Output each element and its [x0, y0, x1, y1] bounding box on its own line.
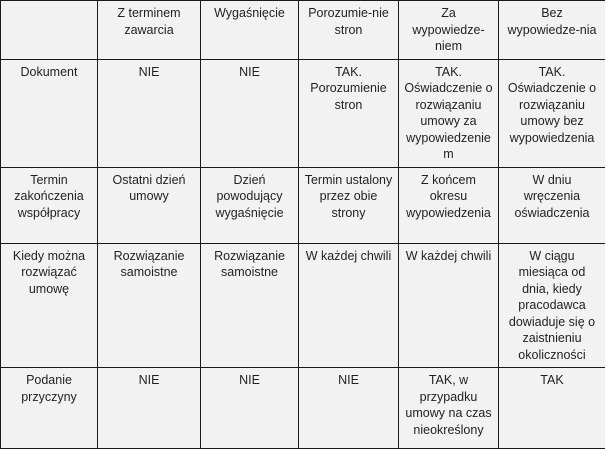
row-label-podanie-przyczyny: Podanie przyczyny — [1, 368, 98, 449]
column-header-wygasniecie: Wygaśnięcie — [201, 1, 299, 60]
table-corner-cell — [1, 1, 98, 60]
column-header-za-wypowiedzeniem: Za wypowiedze-niem — [399, 1, 499, 60]
cell-kiedy-za-wypowiedzeniem: W każdej chwili — [399, 243, 499, 368]
table-row: Podanie przyczyny NIE NIE NIE TAK, w prz… — [1, 368, 605, 449]
cell-przyczyna-bez-wypowiedzenia: TAK — [499, 368, 605, 449]
table-row: Termin zakończenia współpracy Ostatni dz… — [1, 167, 605, 243]
cell-dokument-za-wypowiedzeniem: TAK. Oświadczenie o rozwiązaniu umowy za… — [399, 59, 499, 167]
comparison-table-container: Z terminem zawarcia Wygaśnięcie Porozumi… — [0, 0, 605, 438]
cell-termin-bez-wypowiedzenia: W dniu wręczenia oświadczenia — [499, 167, 605, 243]
cell-dokument-bez-wypowiedzenia: TAK. Oświadczenie o rozwiązaniu umowy be… — [499, 59, 605, 167]
cell-dokument-porozumienie-stron: TAK. Porozumienie stron — [299, 59, 399, 167]
cell-termin-porozumienie-stron: Termin ustalony przez obie strony — [299, 167, 399, 243]
cell-przyczyna-wygasniecie: NIE — [201, 368, 299, 449]
cell-przyczyna-porozumienie-stron: NIE — [299, 368, 399, 449]
row-label-kiedy-mozna-rozwiazac-umowe: Kiedy można rozwiązać umowę — [1, 243, 98, 368]
cell-termin-z-terminem-zawarcia: Ostatni dzień umowy — [98, 167, 201, 243]
cell-kiedy-wygasniecie: Rozwiązanie samoistne — [201, 243, 299, 368]
column-header-porozumienie-stron: Porozumie-nie stron — [299, 1, 399, 60]
cell-przyczyna-za-wypowiedzeniem: TAK, w przypadku umowy na czas nieokreśl… — [399, 368, 499, 449]
cell-kiedy-bez-wypowiedzenia: W ciągu miesiąca od dnia, kiedy pracodaw… — [499, 243, 605, 368]
cell-przyczyna-z-terminem-zawarcia: NIE — [98, 368, 201, 449]
cell-dokument-z-terminem-zawarcia: NIE — [98, 59, 201, 167]
cell-termin-wygasniecie: Dzień powodujący wygaśnięcie — [201, 167, 299, 243]
column-header-z-terminem-zawarcia: Z terminem zawarcia — [98, 1, 201, 60]
table-row: Kiedy można rozwiązać umowę Rozwiązanie … — [1, 243, 605, 368]
table-row: Dokument NIE NIE TAK. Porozumienie stron… — [1, 59, 605, 167]
cell-dokument-wygasniecie: NIE — [201, 59, 299, 167]
cell-termin-za-wypowiedzeniem: Z końcem okresu wypowiedzenia — [399, 167, 499, 243]
column-header-bez-wypowiedzenia: Bez wypowiedze-nia — [499, 1, 605, 60]
cell-kiedy-porozumienie-stron: W każdej chwili — [299, 243, 399, 368]
cell-kiedy-z-terminem-zawarcia: Rozwiązanie samoistne — [98, 243, 201, 368]
contract-termination-comparison-table: Z terminem zawarcia Wygaśnięcie Porozumi… — [0, 0, 605, 449]
row-label-termin-zakonczenia-wspolpracy: Termin zakończenia współpracy — [1, 167, 98, 243]
table-header-row: Z terminem zawarcia Wygaśnięcie Porozumi… — [1, 1, 605, 60]
row-label-dokument: Dokument — [1, 59, 98, 167]
